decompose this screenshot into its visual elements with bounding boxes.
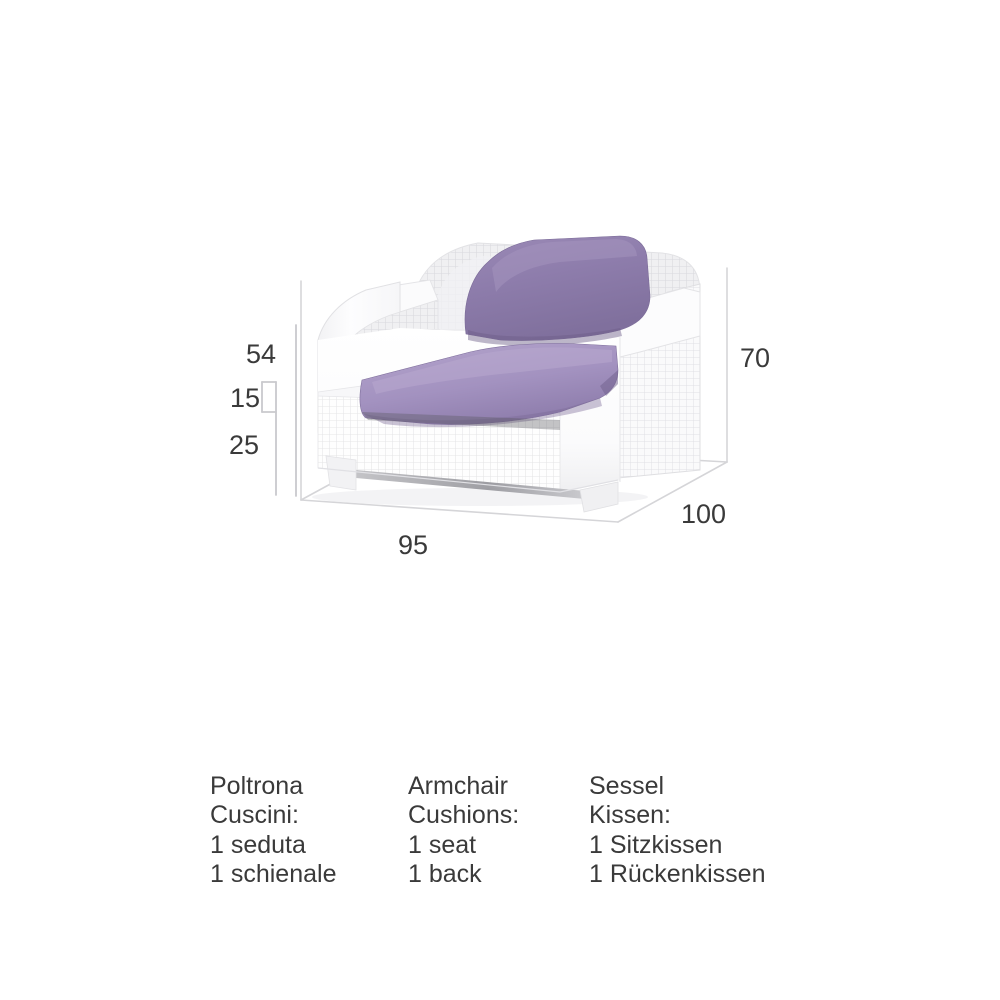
spec-column-italian: Poltrona Cuscini: 1 seduta 1 schienale — [210, 772, 336, 890]
dimension-label-overall-height: 70 — [740, 345, 770, 372]
dimension-label-back-cushion-height: 15 — [230, 385, 260, 412]
spec-en-line-4: 1 back — [408, 860, 519, 889]
dimension-label-seat-height: 25 — [229, 432, 259, 459]
spec-de-line-2: Kissen: — [589, 801, 765, 830]
spec-de-line-4: 1 Rückenkissen — [589, 860, 765, 889]
armchair-drawing — [0, 0, 1000, 620]
spec-column-english: Armchair Cushions: 1 seat 1 back — [408, 772, 519, 890]
specification-text-block: Poltrona Cuscini: 1 seduta 1 schienale A… — [0, 772, 1000, 912]
dimension-label-depth: 100 — [681, 501, 726, 528]
spec-it-line-2: Cuscini: — [210, 801, 336, 830]
spec-en-line-3: 1 seat — [408, 831, 519, 860]
spec-it-line-1: Poltrona — [210, 772, 336, 801]
spec-it-line-3: 1 seduta — [210, 831, 336, 860]
spec-it-line-4: 1 schienale — [210, 860, 336, 889]
product-illustration — [0, 0, 1000, 620]
spec-de-line-3: 1 Sitzkissen — [589, 831, 765, 860]
base-foot-left — [326, 456, 356, 490]
spec-column-german: Sessel Kissen: 1 Sitzkissen 1 Rückenkiss… — [589, 772, 765, 890]
dimension-label-back-height-total: 54 — [246, 341, 276, 368]
product-spec-sheet: 54 15 25 70 100 95 Poltrona Cuscini: 1 s… — [0, 0, 1000, 1000]
spec-de-line-1: Sessel — [589, 772, 765, 801]
dimension-label-width: 95 — [398, 532, 428, 559]
spec-en-line-1: Armchair — [408, 772, 519, 801]
spec-en-line-2: Cushions: — [408, 801, 519, 830]
